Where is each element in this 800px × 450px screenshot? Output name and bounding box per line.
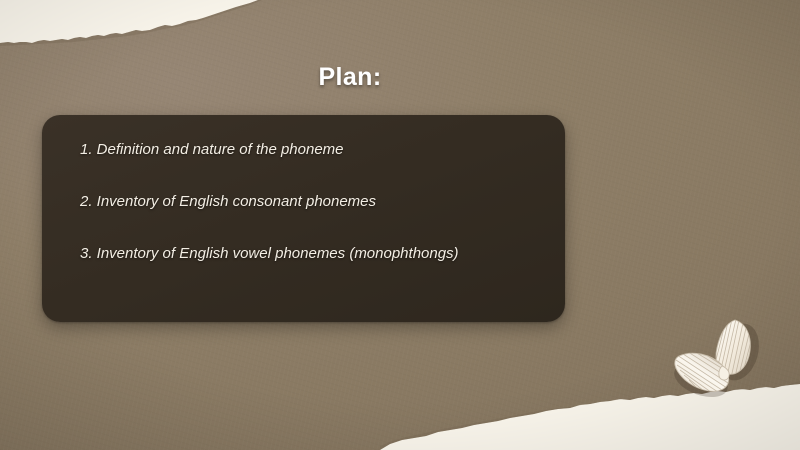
page-title: Plan:: [0, 63, 700, 92]
butterfly-icon: [665, 310, 775, 405]
list-item: 2. Inventory of English consonant phonem…: [80, 193, 547, 212]
plan-list: 1. Definition and nature of the phoneme …: [80, 141, 547, 263]
list-item: 3. Inventory of English vowel phonemes (…: [80, 245, 547, 264]
plan-content-panel: 1. Definition and nature of the phoneme …: [42, 115, 565, 322]
torn-paper-edge-bottom-right-icon: [380, 380, 800, 450]
list-item: 1. Definition and nature of the phoneme: [80, 141, 547, 160]
presentation-slide: Plan: 1. Definition and nature of the ph…: [0, 0, 800, 450]
